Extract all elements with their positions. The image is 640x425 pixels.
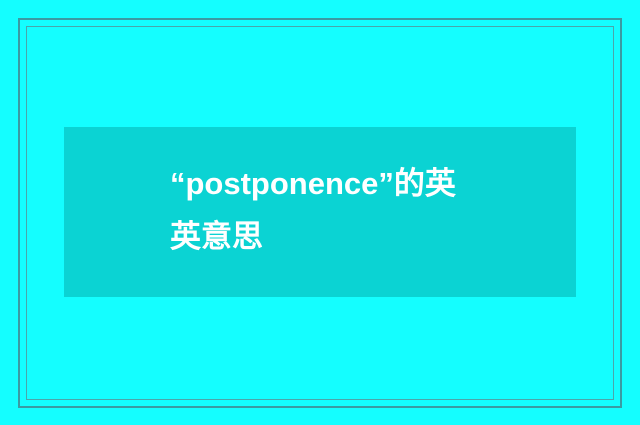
title-card: “postponence”的英英意思 xyxy=(64,127,576,297)
page-root: “postponence”的英英意思 xyxy=(0,0,640,425)
page-title: “postponence”的英英意思 xyxy=(170,157,470,264)
